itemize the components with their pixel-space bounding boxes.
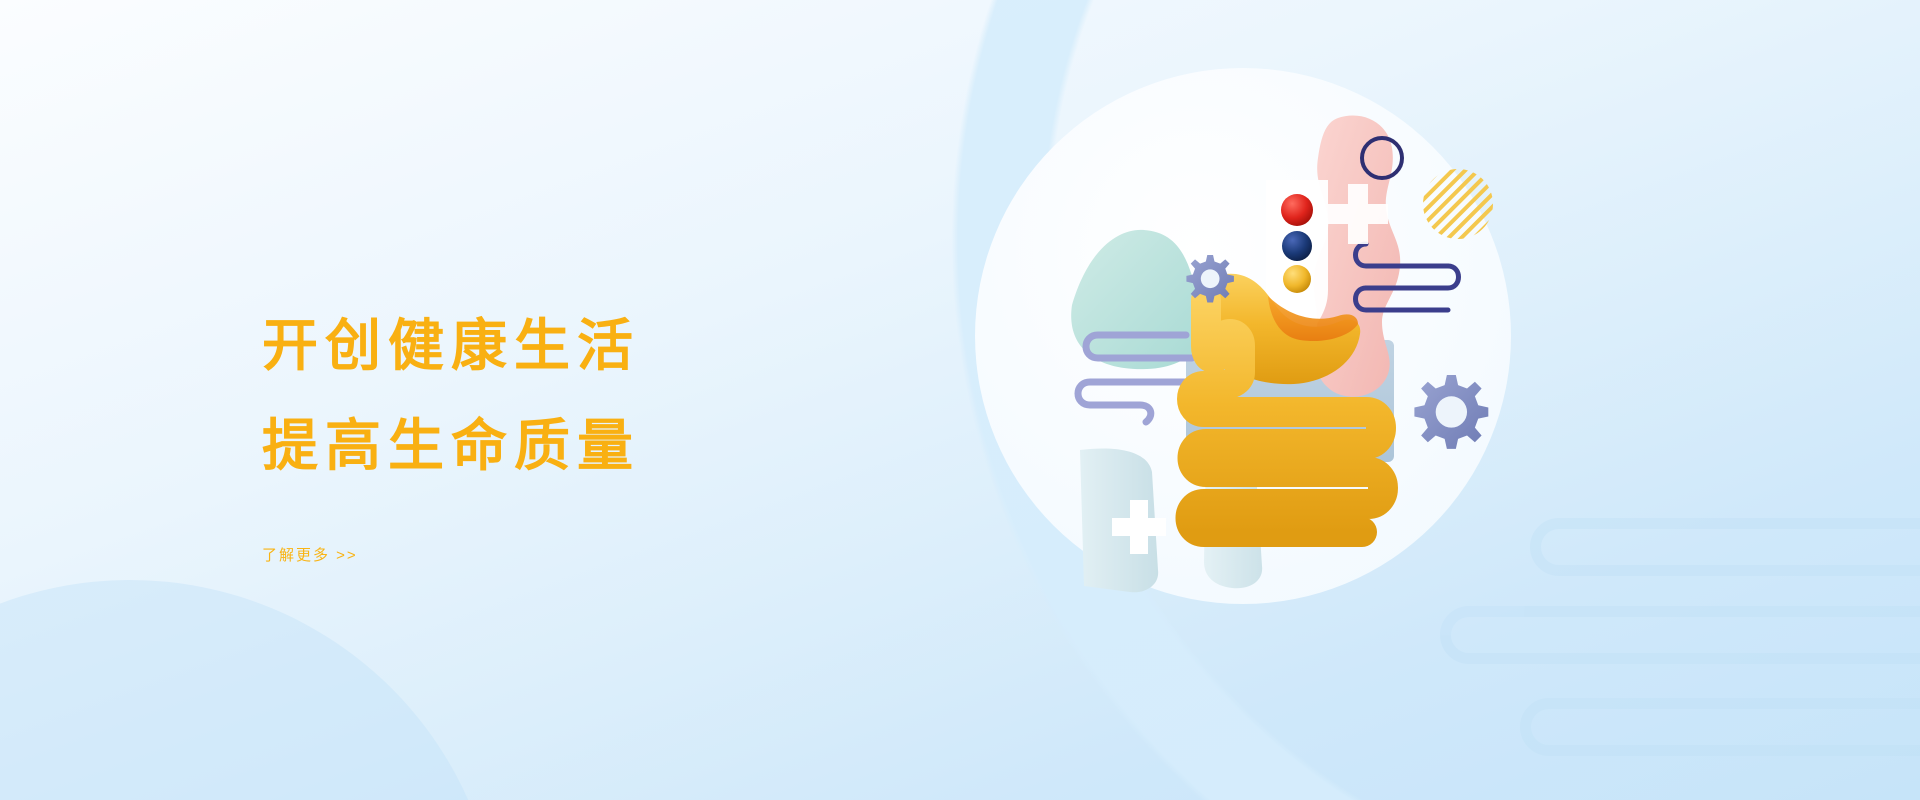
striped-circle-decoration xyxy=(1423,169,1493,239)
headline-line-1: 开创健康生活 xyxy=(262,318,902,374)
gear-small-icon xyxy=(1186,255,1234,303)
background-circle-decoration xyxy=(0,580,500,800)
health-banner: 开创健康生活 提高生命质量 了解更多 >> xyxy=(0,0,1920,800)
test-tube-sphere-navy xyxy=(1282,231,1312,261)
gear-large-icon xyxy=(1414,375,1488,449)
headline-line-2: 提高生命质量 xyxy=(262,418,902,474)
test-tube-sphere-yellow xyxy=(1283,265,1311,293)
digestive-system-illustration xyxy=(1100,100,1580,620)
learn-more-link[interactable]: 了解更多 >> xyxy=(262,544,358,565)
test-tube-sphere-red xyxy=(1281,194,1313,226)
headline-text-block: 开创健康生活 提高生命质量 了解更多 >> xyxy=(262,318,902,565)
